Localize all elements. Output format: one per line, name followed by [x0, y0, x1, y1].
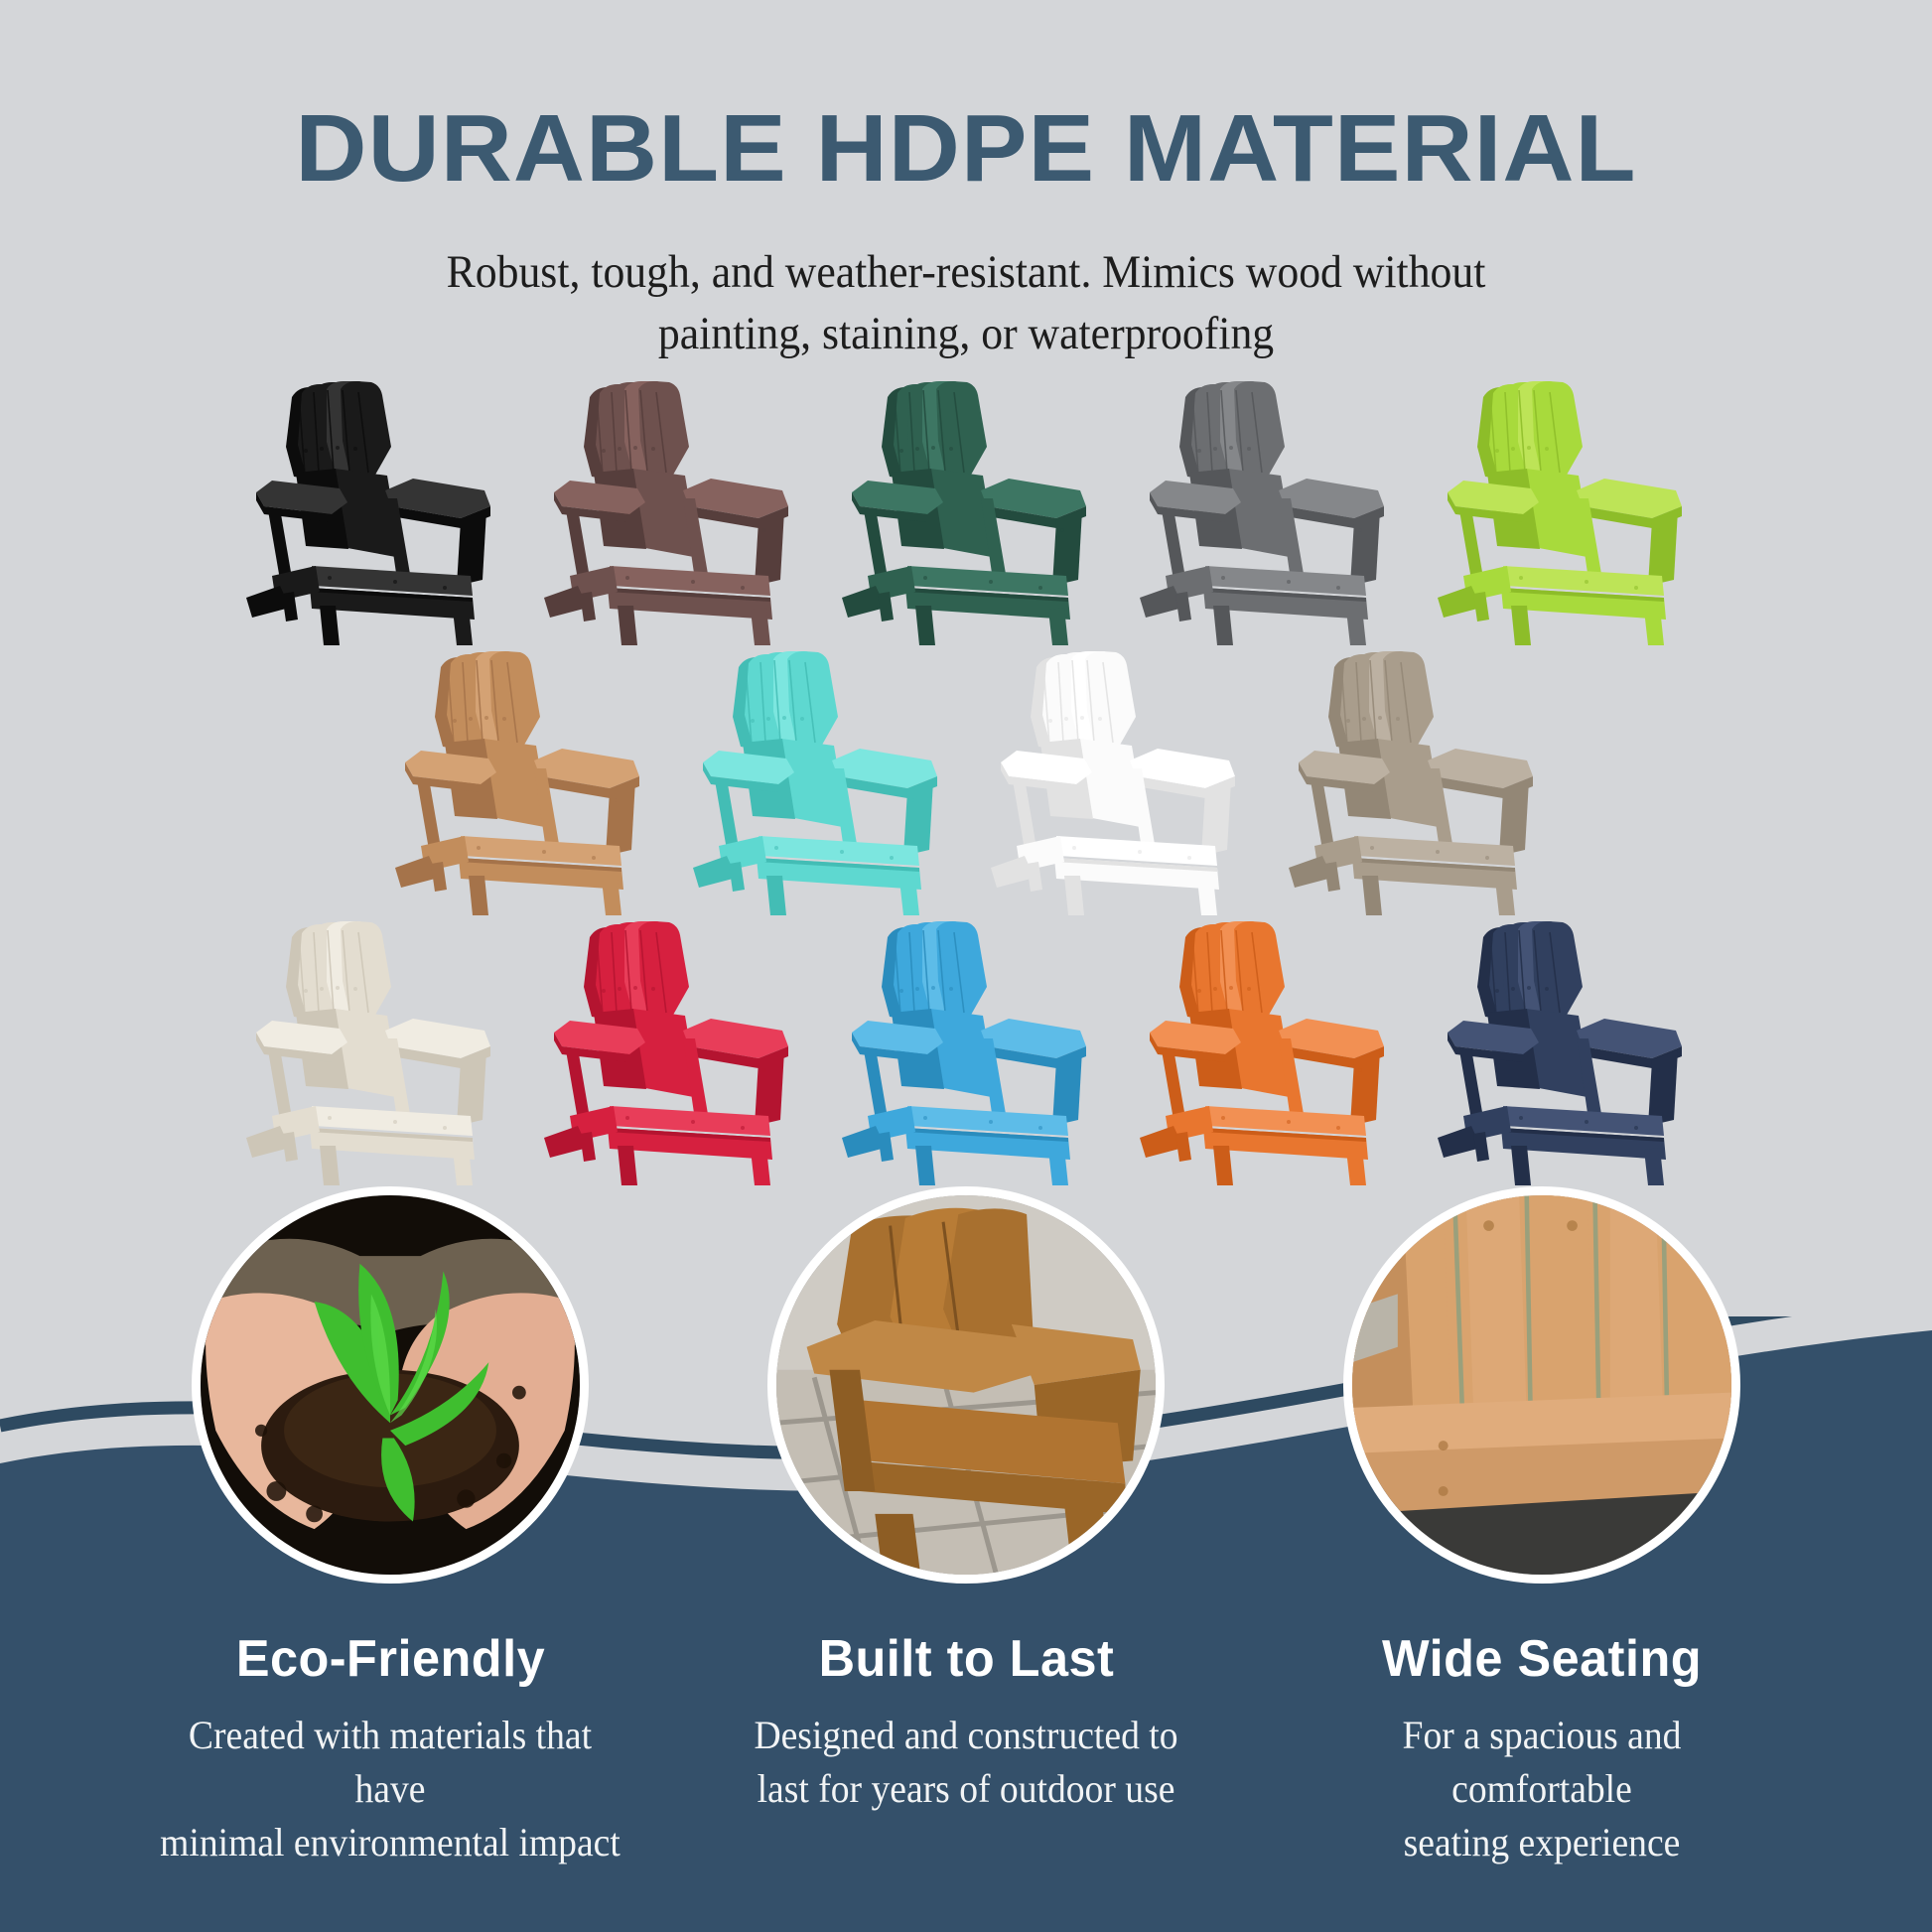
chair-back-slats	[286, 381, 391, 481]
chair-right-arm-support	[1350, 510, 1380, 586]
chair-color-grid	[0, 375, 1932, 1185]
feature-desc-line-1: Designed and constructed to	[733, 1709, 1199, 1762]
chair-navy	[1428, 921, 1696, 1185]
chair-left-arm-post	[864, 508, 888, 580]
chair-row-1	[0, 375, 1932, 645]
chair-right-arm-support	[755, 1050, 784, 1126]
chair-left-arm-post	[1013, 778, 1036, 850]
chair-right-arm-support	[1648, 510, 1678, 586]
feature-image-2	[767, 1186, 1165, 1584]
chair-left-arm-post	[1311, 778, 1334, 850]
chair-right-arm-support	[1350, 1050, 1380, 1126]
chair-row-3	[0, 915, 1932, 1185]
chair-swatch-dark-green[interactable]	[817, 375, 1115, 645]
chair-left-arm-post	[715, 778, 739, 850]
chair-right-arm-support	[606, 780, 635, 856]
wide-seat-closeup-icon	[1352, 1195, 1731, 1575]
feature-description-2: Designed and constructed to last for yea…	[733, 1709, 1199, 1816]
chair-weathered-wood	[1279, 651, 1547, 915]
chair-swatch-sky-blue[interactable]	[817, 915, 1115, 1185]
feature-desc-line-2: minimal environmental impact	[157, 1816, 623, 1869]
chair-left-arm-post	[864, 1048, 888, 1120]
feature-description-3: For a spacious and comfortable seating e…	[1309, 1709, 1775, 1869]
subtitle-line-1: Robust, tough, and weather-resistant. Mi…	[347, 241, 1585, 303]
feature-description-1: Created with materials that have minimal…	[157, 1709, 623, 1869]
chair-white	[981, 651, 1249, 915]
chair-left-arm-post	[1459, 1048, 1483, 1120]
chair-swatch-lime-green[interactable]	[1413, 375, 1711, 645]
feature-title-2: Built to Last	[818, 1629, 1114, 1689]
chair-back-slats	[584, 381, 689, 481]
chair-left-arm-post	[268, 508, 292, 580]
chair-swatch-ivory[interactable]	[221, 915, 519, 1185]
feature-image-3	[1343, 1186, 1740, 1584]
chair-back-slats	[882, 381, 987, 481]
chair-back-slats	[584, 921, 689, 1021]
chair-back-slats	[1477, 921, 1583, 1021]
chair-back-slats	[1179, 381, 1285, 481]
feature-image-1	[192, 1186, 589, 1584]
chair-turquoise	[683, 651, 951, 915]
chair-back-slats	[882, 921, 987, 1021]
chair-right-arm-support	[1201, 780, 1231, 856]
chair-back-slats	[733, 651, 838, 751]
chair-swatch-white[interactable]	[966, 645, 1264, 915]
chair-right-arm-support	[1052, 1050, 1082, 1126]
chair-right-arm-support	[457, 510, 486, 586]
seedling-in-hands-icon	[201, 1195, 580, 1575]
chair-left-arm-post	[1162, 1048, 1185, 1120]
feature-desc-line-2: seating experience	[1309, 1816, 1775, 1869]
infographic-poster: DURABLE HDPE MATERIAL Robust, tough, and…	[0, 0, 1932, 1932]
chair-right-arm-support	[1648, 1050, 1678, 1126]
chair-brown	[534, 381, 802, 645]
feature-desc-line-2: last for years of outdoor use	[733, 1762, 1199, 1816]
chair-left-arm-post	[566, 508, 590, 580]
chair-back-slats	[1179, 921, 1285, 1021]
chair-left-arm-post	[417, 778, 441, 850]
chair-right-arm-support	[457, 1050, 486, 1126]
chair-black	[236, 381, 504, 645]
feature-title-1: Eco-Friendly	[235, 1629, 544, 1689]
subtitle-line-2: painting, staining, or waterproofing	[347, 303, 1585, 364]
feature-desc-line-1: For a spacious and comfortable	[1309, 1709, 1775, 1816]
feature-title-3: Wide Seating	[1382, 1629, 1702, 1689]
chair-right-arm-support	[1499, 780, 1529, 856]
chair-lime-green	[1428, 381, 1696, 645]
feature-desc-line-1: Created with materials that have	[157, 1709, 623, 1816]
chair-sky-blue	[832, 921, 1100, 1185]
chair-swatch-brown[interactable]	[519, 375, 817, 645]
chair-left-arm-post	[566, 1048, 590, 1120]
chair-swatch-weathered-wood[interactable]	[1264, 645, 1562, 915]
teak-chair-on-patio-icon	[776, 1195, 1156, 1575]
chair-dark-green	[832, 381, 1100, 645]
chair-orange	[1130, 921, 1398, 1185]
feature-list: Eco-Friendly Created with materials that…	[0, 1186, 1932, 1869]
header-section: DURABLE HDPE MATERIAL Robust, tough, and…	[0, 0, 1932, 364]
chair-swatch-black[interactable]	[221, 375, 519, 645]
chair-swatch-navy[interactable]	[1413, 915, 1711, 1185]
chair-back-slats	[435, 651, 540, 751]
chair-right-arm-support	[903, 780, 933, 856]
feature-wide-seating: Wide Seating For a spacious and comforta…	[1309, 1186, 1775, 1869]
chair-back-slats	[286, 921, 391, 1021]
chair-swatch-turquoise[interactable]	[668, 645, 966, 915]
chair-red	[534, 921, 802, 1185]
chair-row-2	[0, 645, 1932, 915]
chair-teak	[385, 651, 653, 915]
chair-swatch-gray[interactable]	[1115, 375, 1413, 645]
chair-ivory	[236, 921, 504, 1185]
chair-left-arm-post	[268, 1048, 292, 1120]
page-title: DURABLE HDPE MATERIAL	[0, 99, 1932, 200]
chair-left-arm-post	[1459, 508, 1483, 580]
chair-swatch-teak[interactable]	[370, 645, 668, 915]
chair-left-arm-post	[1162, 508, 1185, 580]
chair-swatch-red[interactable]	[519, 915, 817, 1185]
chair-right-arm-support	[755, 510, 784, 586]
chair-right-arm-support	[1052, 510, 1082, 586]
chair-back-slats	[1031, 651, 1136, 751]
chair-swatch-orange[interactable]	[1115, 915, 1413, 1185]
chair-back-slats	[1328, 651, 1434, 751]
feature-built-to-last: Built to Last Designed and constructed t…	[733, 1186, 1199, 1869]
page-subtitle: Robust, tough, and weather-resistant. Mi…	[347, 241, 1585, 364]
chair-gray	[1130, 381, 1398, 645]
chair-back-slats	[1477, 381, 1583, 481]
feature-eco-friendly: Eco-Friendly Created with materials that…	[157, 1186, 623, 1869]
